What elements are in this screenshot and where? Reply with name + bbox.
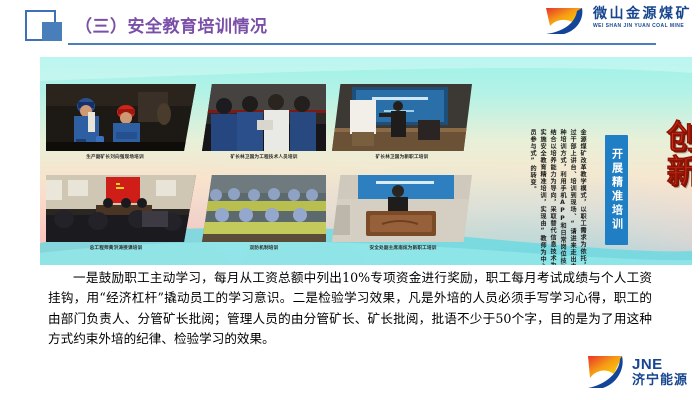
collage-photo-1 [46,84,196,151]
collage-photo-6 [332,175,472,242]
collage-caption-5: 双防机制培训 [200,245,328,251]
body-paragraph: 一是鼓励职工主动学习，每月从工资总额中列出10%专项资金进行奖励，职工每月考试成… [48,268,652,350]
brand-text-block: 微山金源煤矿 WEI SHAN JIN YUAN COAL MINE [593,7,692,30]
collage-headline: 教育培训创新 [637,119,692,265]
collage-caption-3: 矿长林卫国为新职工培训 [332,154,472,160]
collage-photo-3 [332,84,472,151]
brand-name-en: WEI SHAN JIN YUAN COAL MINE [593,22,692,30]
vertical-column-1: 金源煤矿改革教学模式，以职工需求为依托，通 [577,129,587,265]
swoosh-logo-icon: 济宁能源 [544,6,586,36]
collage-caption-1: 生产副矿长刘向强现场培训 [40,154,190,160]
brand-logo: 济宁能源 微山金源煤矿 WEI SHAN JIN YUAN COAL MINE [544,4,692,44]
page-title: （三）安全教育培训情况 [75,12,268,37]
slide-header: （三）安全教育培训情况 济宁能源 微山 [0,0,700,52]
footer-logo: JNE 济宁能源 [586,354,688,390]
collage-photo-4 [46,175,196,242]
vertical-paragraph-block: 金源煤矿改革教学模式，以职工需求为依托，通 过干部上讲台、培训到现场、“请进来走… [527,129,587,265]
collage-caption-2: 矿长林卫国为工程技术人员培训 [190,154,338,160]
collage-photo-2 [202,84,326,151]
blue-callout-box: 开展精准培训 [605,135,628,245]
collage-photo-5 [202,175,326,242]
vertical-column-4: 结合以培养能力为导向，采取替代信息技术为手段， [547,129,557,265]
decor-square-filled-icon [42,22,62,41]
brand-name-cn: 微山金源煤矿 [593,7,692,22]
vertical-column-6: 员参与式”的转变。 [527,129,537,265]
vertical-column-5: 实施安全教育精准培训，实现由“教师为中心”到“学 [537,129,547,265]
jne-swoosh-logo-icon [586,354,626,390]
vertical-column-3: 种培训方式，利用手机APP和日常岗位技能培训相 [557,129,567,265]
blue-callout-label: 开展精准培训 [609,148,625,232]
collage-caption-6: 安全处副主席南炫为新职工培训 [332,245,474,251]
slide-canvas: （三）安全教育培训情况 济宁能源 微山 [0,0,700,400]
footer-logo-cn: 济宁能源 [632,373,688,388]
collage-caption-4: 总工程师黄洪涛授课培训 [40,245,192,251]
footer-logo-en: JNE [632,357,688,373]
vertical-column-2: 过干部上讲台、培训到现场、“请进来走出去”等多 [567,129,577,265]
footer-logo-text: JNE 济宁能源 [632,357,688,388]
photo-collage-panel: 生产副矿长刘向强现场培训 [40,57,692,265]
